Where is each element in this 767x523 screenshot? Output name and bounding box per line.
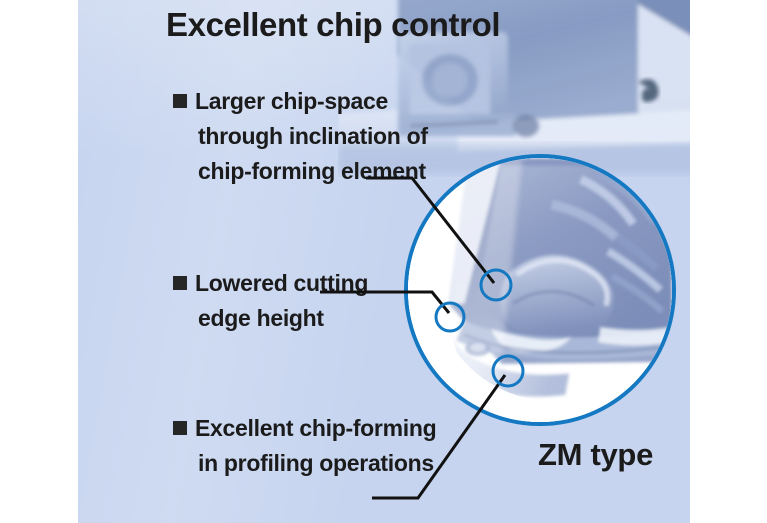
insert-corner-closeup-photo (408, 158, 672, 422)
bullet-line: chip-forming element (173, 154, 428, 189)
bullet-chip-forming: Excellent chip-forming in profiling oper… (173, 411, 436, 481)
bullet-line: Excellent chip-forming (173, 411, 436, 446)
bullet-text: Lowered cutting (195, 270, 368, 296)
bullet-line: edge height (173, 301, 368, 336)
bullet-line: Lowered cutting (173, 266, 368, 301)
page-title: Excellent chip control (166, 6, 500, 44)
bullet-cutting-edge: Lowered cutting edge height (173, 266, 368, 336)
slide-root: Excellent chip control Larger chip-space… (0, 0, 767, 523)
bullet-line: in profiling operations (173, 446, 436, 481)
bullet-chip-space: Larger chip-space through inclination of… (173, 84, 428, 189)
magnifier-inset (404, 154, 676, 426)
bullet-line: Larger chip-space (173, 84, 428, 119)
bullet-square-icon (173, 94, 187, 108)
bullet-square-icon (173, 276, 187, 290)
insert-type-label: ZM type (538, 437, 653, 473)
bullet-square-icon (173, 421, 187, 435)
bullet-text: Excellent chip-forming (195, 415, 436, 441)
bullet-text: Larger chip-space (195, 88, 388, 114)
bullet-line: through inclination of (173, 119, 428, 154)
